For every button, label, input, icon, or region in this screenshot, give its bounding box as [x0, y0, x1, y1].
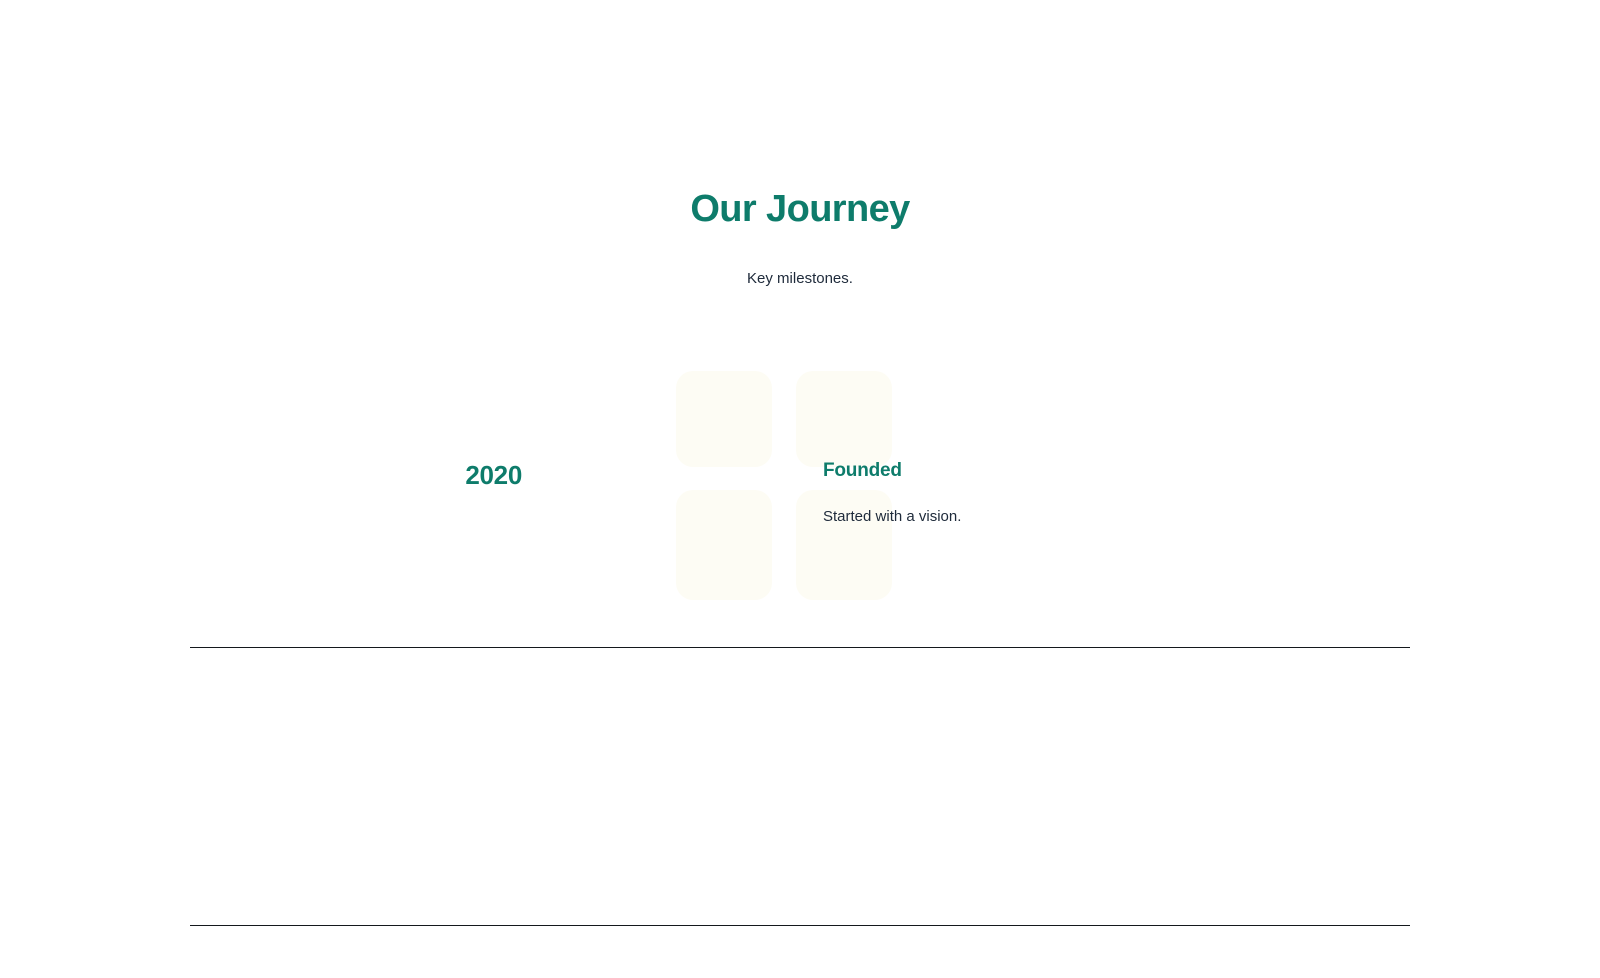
- page-subtitle: Key milestones.: [0, 268, 1600, 290]
- our-journey-page: Our Journey Key milestones. 2020 Founded…: [0, 0, 1600, 978]
- timeline-entry-heading: Founded: [823, 458, 1383, 484]
- timeline-year-label: 2020: [222, 459, 522, 491]
- timeline-row: 2020 Founded Started with a vision.: [0, 340, 1600, 648]
- section-header: Our Journey Key milestones.: [0, 186, 1600, 290]
- timeline: 2020 Founded Started with a vision. 2021…: [0, 340, 1600, 925]
- page-title: Our Journey: [0, 186, 1600, 232]
- timeline-row: 2021 First 1,000 Users First milestone.: [0, 648, 1600, 925]
- timeline-entry-description: Started with a vision.: [823, 506, 1383, 528]
- timeline-entry-content: Founded Started with a vision.: [823, 458, 1383, 528]
- timeline-divider: [190, 925, 1410, 926]
